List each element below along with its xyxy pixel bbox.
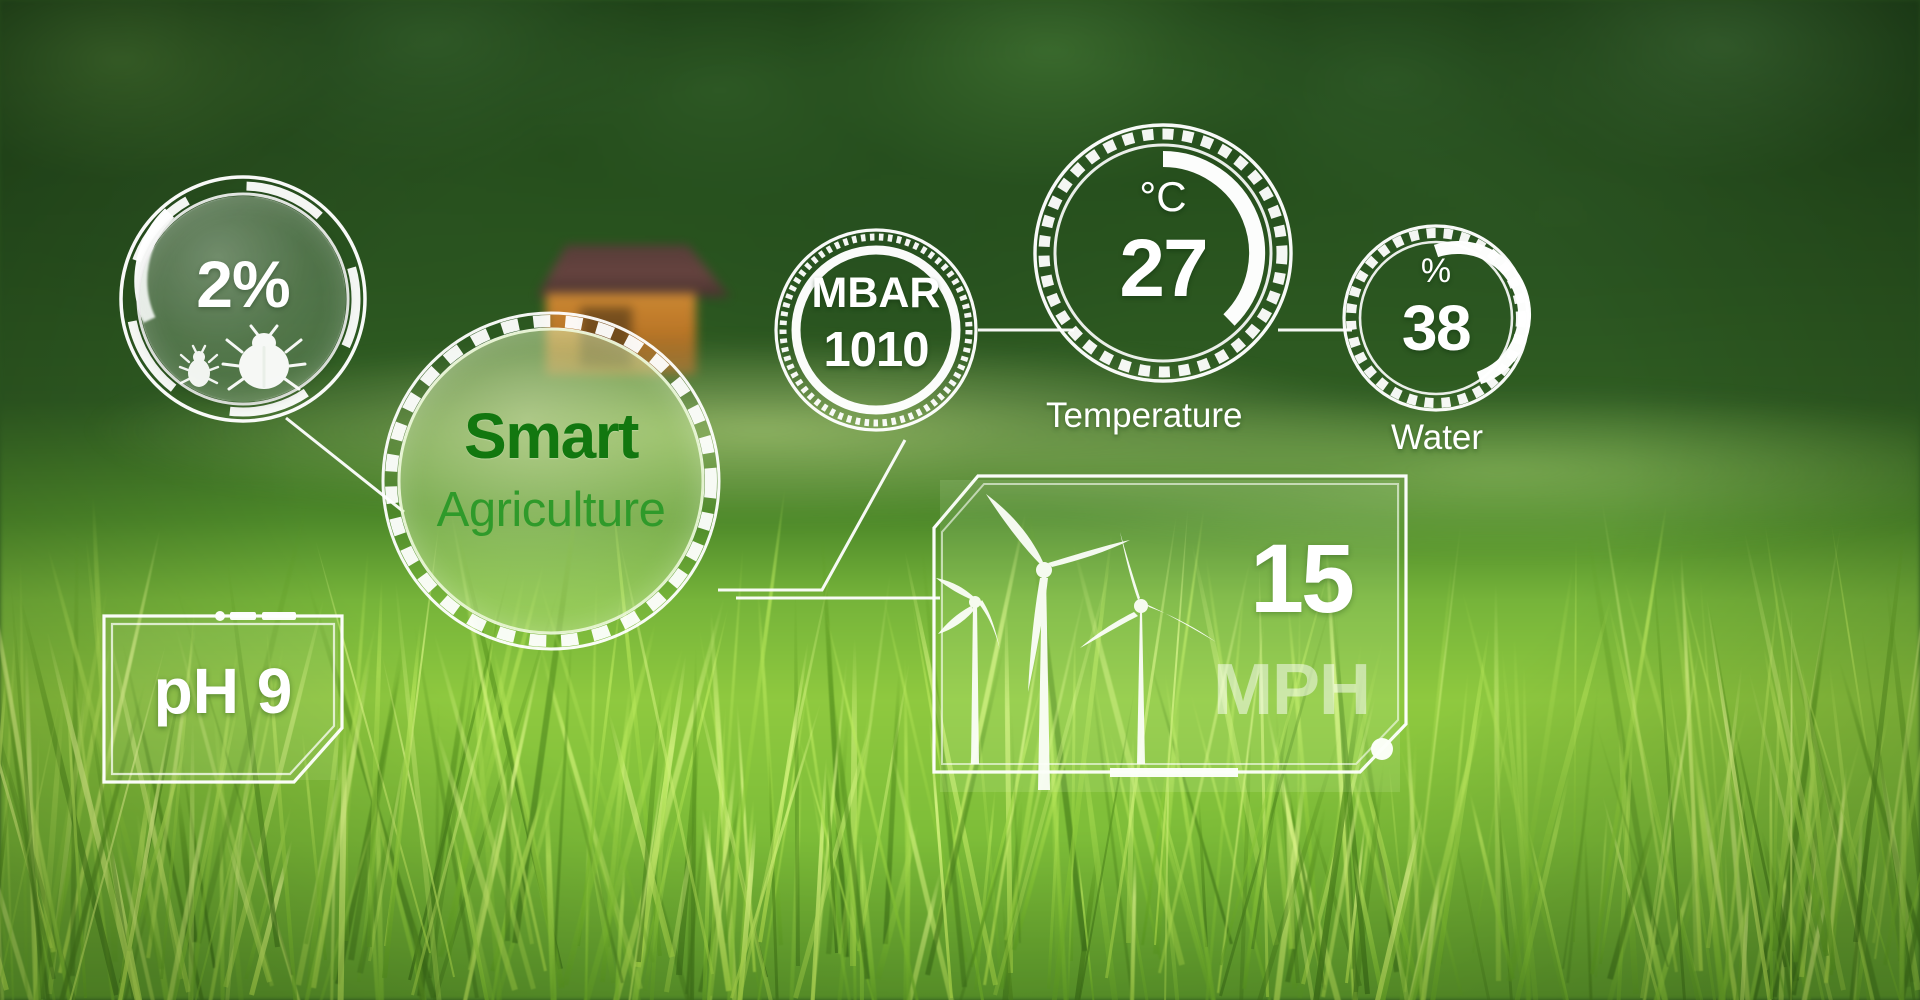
temperature-value: 27	[1030, 228, 1296, 310]
ph-value: pH 9	[98, 654, 348, 728]
panel-ph[interactable]: pH 9	[98, 610, 348, 788]
hud-overlay: 2%	[0, 0, 1920, 1000]
brand-line-2: Agriculture	[378, 486, 724, 535]
brand-circle-glass	[398, 328, 704, 634]
panel-wind[interactable]: 15 MPH	[930, 472, 1410, 802]
water-caption: Water	[1391, 418, 1483, 458]
pressure-value: 1010	[772, 326, 980, 375]
gauge-water[interactable]: % 38	[1340, 222, 1532, 414]
wind-unit: MPH	[1213, 654, 1370, 726]
wind-value: 15	[1250, 530, 1352, 627]
gauge-temperature[interactable]: °C 27	[1030, 120, 1296, 386]
temperature-caption: Temperature	[1046, 396, 1242, 436]
water-value: 38	[1340, 296, 1532, 360]
gauge-pest[interactable]: 2%	[116, 172, 370, 426]
insect-icon-small	[179, 346, 219, 392]
temperature-unit-label: °C	[1030, 176, 1296, 218]
pressure-unit-label: MBAR	[772, 272, 980, 315]
pest-value: 2%	[116, 246, 370, 322]
gauge-pressure[interactable]: MBAR 1010	[772, 226, 980, 434]
brand-line-1: Smart	[378, 404, 724, 468]
link-brand-mbar	[718, 440, 905, 590]
dashboard-stage: 2%	[0, 0, 1920, 1000]
insect-icon	[116, 320, 370, 392]
insect-icon-large	[221, 326, 307, 392]
brand-circle[interactable]: Smart Agriculture	[378, 308, 724, 654]
water-unit-label: %	[1340, 254, 1532, 288]
